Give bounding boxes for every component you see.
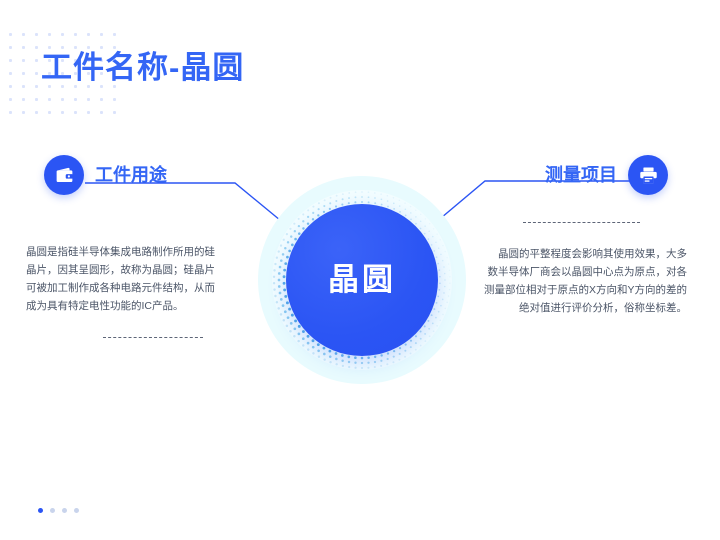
printer-icon: [628, 155, 668, 195]
center-core-circle: 晶圆: [286, 204, 438, 356]
pagination-dot[interactable]: [38, 508, 43, 513]
wallet-icon: [44, 155, 84, 195]
center-label: 晶圆: [328, 263, 396, 297]
left-section-text: 晶圆是指硅半导体集成电路制作所用的硅晶片，因其呈圆形，故称为晶圆；硅晶片可被加工…: [26, 243, 222, 315]
pagination-dot[interactable]: [74, 508, 79, 513]
pagination-dot[interactable]: [62, 508, 67, 513]
center-graphic: 晶圆: [258, 176, 466, 384]
left-section-title: 工件用途: [95, 163, 167, 187]
page-title: 工件名称-晶圆: [41, 47, 244, 89]
right-section-header: 测量项目: [545, 155, 668, 195]
pagination-dots[interactable]: [38, 508, 79, 513]
right-section-text: 晶圆的平整程度会影响其使用效果，大多数半导体厂商会以晶圆中心点为原点，对各测量部…: [482, 245, 687, 317]
right-dashed-separator: [523, 222, 640, 223]
pagination-dot[interactable]: [50, 508, 55, 513]
left-section-header: 工件用途: [44, 155, 167, 195]
left-dashed-separator: [103, 337, 203, 338]
right-section-title: 测量项目: [545, 163, 617, 187]
slide-canvas: 工件名称-晶圆 晶圆 工件用途 晶圆是指硅半导体集成电路制作所用的硅晶片，因其呈…: [0, 0, 720, 540]
